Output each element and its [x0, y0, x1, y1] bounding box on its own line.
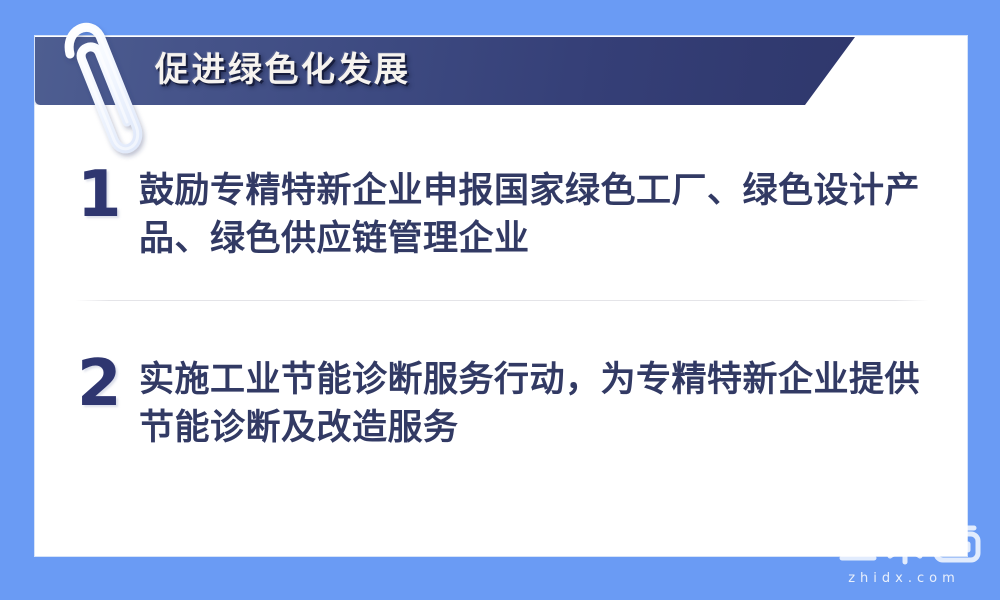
banner-shape — [35, 37, 855, 105]
list-item: 2 实施工业节能诊断服务行动，为专精特新企业提供节能诊断及改造服务 — [65, 301, 937, 453]
list-item-text: 鼓励专精特新企业申报国家绿色工厂、绿色设计产品、绿色供应链管理企业 — [139, 164, 937, 264]
list-item-text: 实施工业节能诊断服务行动，为专精特新企业提供节能诊断及改造服务 — [139, 353, 937, 453]
list-item: 1 鼓励专精特新企业申报国家绿色工厂、绿色设计产品、绿色供应链管理企业 — [65, 106, 937, 264]
watermark-site: zhidx.com — [828, 571, 980, 586]
header-banner: 促进绿色化发展 — [35, 37, 855, 105]
list-item-number: 2 — [65, 353, 139, 416]
slide-canvas: 促进绿色化发展 1 鼓励专精特新企业申报国家绿色工厂、绿色设计产品、绿色供应链管… — [0, 0, 1000, 600]
policy-list: 1 鼓励专精特新企业申报国家绿色工厂、绿色设计产品、绿色供应链管理企业 2 实施… — [35, 106, 967, 556]
list-item-number: 1 — [65, 164, 139, 227]
